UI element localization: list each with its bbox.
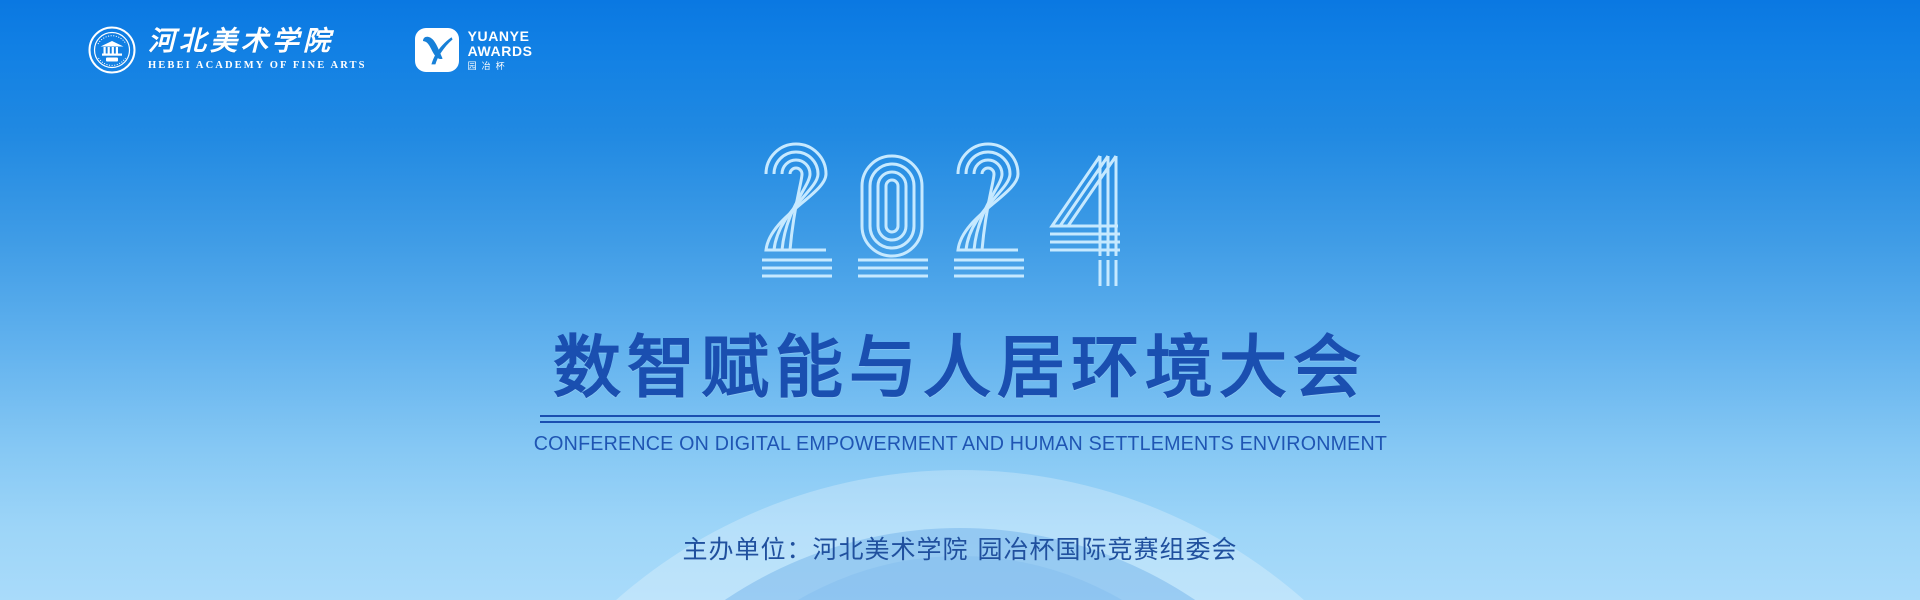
- divider-rule-bottom: [540, 421, 1380, 423]
- yuanye-wordmark: YUANYE AWARDS 园冶杯: [468, 29, 533, 71]
- yuanye-swoosh-icon: [415, 28, 459, 72]
- yuanye-name-cn: 园冶杯: [468, 62, 533, 71]
- academy-wordmark: 河北美术学院 HEBEI ACADEMY OF FINE ARTS: [148, 28, 367, 72]
- title-divider: [540, 415, 1380, 423]
- conference-banner: 河北美术学院 HEBEI ACADEMY OF FINE ARTS YUANYE…: [0, 0, 1920, 600]
- logo-hebei-academy[interactable]: 河北美术学院 HEBEI ACADEMY OF FINE ARTS: [88, 26, 367, 74]
- logo-yuanye-awards[interactable]: YUANYE AWARDS 园冶杯: [415, 28, 533, 72]
- conference-title-en: CONFERENCE ON DIGITAL EMPOWERMENT AND HU…: [533, 432, 1386, 456]
- academy-name-en: HEBEI ACADEMY OF FINE ARTS: [148, 61, 367, 72]
- headline-block: 数智赋能与人居环境大会 CONFERENCE ON DIGITAL EMPOWE…: [0, 332, 1920, 456]
- year-graphic: [0, 138, 1920, 288]
- yuanye-line-2: AWARDS: [468, 44, 533, 59]
- organizer-line: 主办单位：河北美术学院 园冶杯国际竞赛组委会: [0, 534, 1920, 566]
- academy-seal-icon: [88, 26, 136, 74]
- divider-rule-top: [540, 415, 1380, 417]
- year-2024-icon: [760, 138, 1160, 288]
- academy-name-cn: 河北美术学院: [148, 28, 367, 55]
- conference-title-cn: 数智赋能与人居环境大会: [553, 332, 1367, 406]
- logo-bar: 河北美术学院 HEBEI ACADEMY OF FINE ARTS YUANYE…: [88, 26, 533, 74]
- yuanye-line-1: YUANYE: [468, 29, 533, 44]
